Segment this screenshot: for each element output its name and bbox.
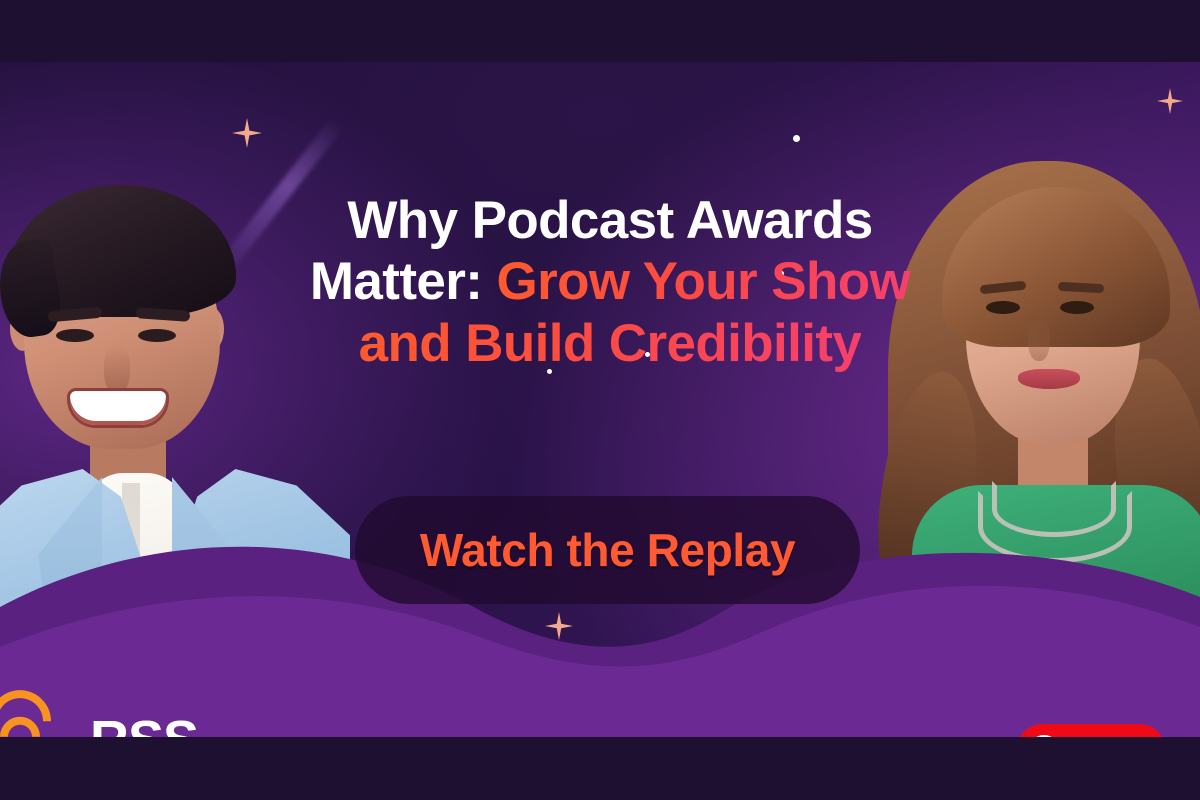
male-hair	[8, 185, 236, 317]
watch-the-replay-button[interactable]: Watch the Replay	[355, 496, 860, 604]
headline: Why Podcast Awards Matter: Grow Your Sho…	[250, 190, 970, 374]
male-smile	[70, 391, 166, 425]
headline-line-2-white: Matter:	[310, 252, 497, 311]
rss-signal-icon	[18, 708, 80, 737]
letterbox-top	[0, 0, 1200, 62]
sparkle-icon-top-left	[232, 118, 262, 148]
star-dot-1	[793, 135, 800, 142]
male-eye-left	[56, 329, 94, 342]
rss-com-logo[interactable]: RSS .com	[18, 708, 259, 737]
headline-line-3-gradient: and Build Credibility	[359, 314, 862, 373]
watch-the-replay-label: Watch the Replay	[420, 523, 795, 577]
female-nose	[1028, 317, 1050, 361]
female-eye-left	[986, 301, 1020, 314]
brand-name: RSS	[90, 715, 198, 737]
headline-line-2: Matter: Grow Your Show	[250, 251, 970, 312]
headline-line-3: and Build Credibility	[250, 313, 970, 374]
promo-banner: Why Podcast Awards Matter: Grow Your Sho…	[0, 0, 1200, 800]
female-eye-right	[1060, 301, 1094, 314]
live-badge[interactable]: LIVE	[1016, 724, 1166, 737]
headline-line-2-gradient: Grow Your Show	[496, 252, 910, 311]
sparkle-icon-top-right	[1157, 88, 1183, 114]
headline-line-1-text: Why Podcast Awards	[347, 191, 872, 250]
artboard: Why Podcast Awards Matter: Grow Your Sho…	[0, 62, 1200, 737]
female-lips	[1018, 369, 1080, 389]
male-eye-right	[138, 329, 176, 342]
male-nose	[104, 345, 130, 393]
headline-line-1: Why Podcast Awards	[250, 190, 970, 251]
letterbox-bottom	[0, 737, 1200, 800]
